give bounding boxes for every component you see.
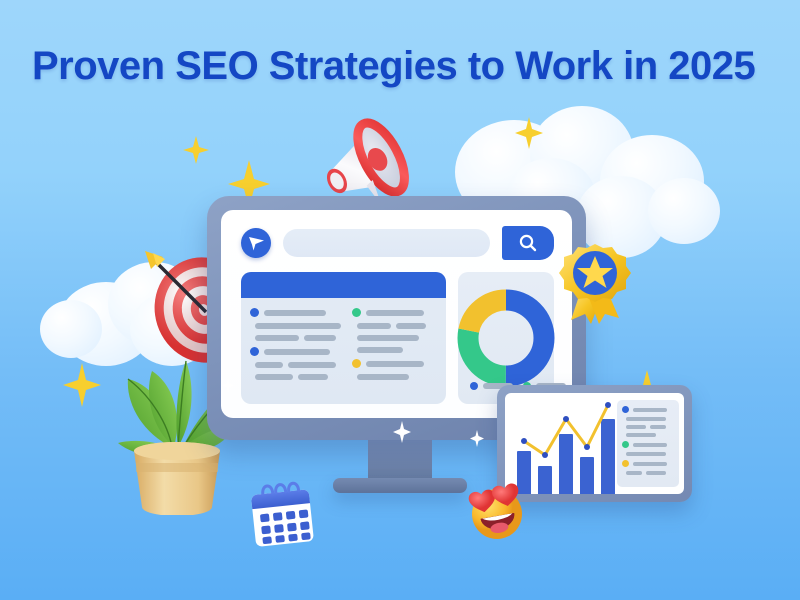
placeholder-bar: [396, 323, 426, 329]
placeholder-bar: [650, 425, 666, 429]
bar-2: [538, 466, 552, 494]
sparkle-star-icon: [63, 363, 101, 407]
list-column-right: [352, 308, 437, 386]
placeholder-bar: [288, 362, 336, 368]
list-item: [622, 433, 674, 437]
tablet-screen: [505, 393, 684, 494]
heart-eyes-emoji: [465, 476, 529, 544]
award-badge-icon: [557, 242, 635, 326]
placeholder-bar: [626, 417, 666, 421]
bullet-dot: [250, 347, 259, 356]
placeholder-bar: [633, 462, 667, 466]
calendar-icon: [245, 474, 321, 552]
sparkle-star-icon: [183, 136, 209, 164]
list-item: [622, 425, 674, 429]
list-item: [250, 308, 341, 317]
bullet-dot: [352, 359, 361, 368]
sparkle-star-icon: [222, 378, 234, 393]
list-item: [622, 452, 674, 456]
placeholder-bar: [357, 335, 419, 341]
cloud-decoration: [40, 300, 102, 358]
list-item: [352, 347, 437, 353]
list-item: [250, 323, 341, 329]
placeholder-bar: [255, 323, 341, 329]
list-column-left: [250, 308, 341, 386]
placeholder-bar: [366, 310, 424, 316]
placeholder-bar: [357, 374, 409, 380]
bar-4: [580, 457, 594, 494]
placeholder-bar: [626, 425, 646, 429]
bullet-dot: [352, 308, 361, 317]
placeholder-bar: [304, 335, 336, 341]
tablet-list-panel: [617, 400, 679, 487]
list-item: [622, 460, 674, 467]
placeholder-bar: [298, 374, 328, 380]
list-item: [250, 347, 341, 356]
list-item: [352, 374, 437, 380]
bar-5: [601, 419, 615, 494]
list-item: [352, 335, 437, 341]
list-item: [352, 359, 437, 368]
bullet-dot: [622, 406, 629, 413]
list-item: [352, 323, 437, 329]
monitor-stand-neck: [368, 440, 432, 483]
placeholder-bar: [255, 335, 299, 341]
cloud-decoration: [648, 178, 720, 244]
placeholder-bar: [255, 374, 293, 380]
search-button[interactable]: [502, 226, 554, 260]
placeholder-bar: [264, 349, 330, 355]
placeholder-bar: [633, 408, 667, 412]
list-item: [250, 374, 341, 380]
placeholder-bar: [366, 361, 424, 367]
placeholder-bar: [357, 323, 391, 329]
search-input[interactable]: [283, 229, 490, 257]
list-item: [250, 335, 341, 341]
list-panel: [241, 272, 446, 404]
bullet-dot: [250, 308, 259, 317]
placeholder-bar: [646, 471, 666, 475]
list-panel-header: [241, 272, 446, 298]
legend-dot: [470, 382, 478, 390]
sparkle-star-icon: [515, 117, 543, 149]
placeholder-bar: [357, 347, 403, 353]
donut-chart: [454, 286, 558, 395]
monitor-stand-base: [333, 478, 467, 493]
list-item: [622, 441, 674, 448]
page-title: Proven SEO Strategies to Work in 2025: [32, 44, 755, 89]
illustration-scene: Proven SEO Strategies to Work in 2025: [0, 0, 800, 600]
sparkle-star-icon: [393, 421, 411, 443]
placeholder-bar: [633, 443, 667, 447]
list-item: [622, 471, 674, 475]
placeholder-bar: [255, 362, 283, 368]
bullet-dot: [622, 441, 629, 448]
placeholder-bar: [626, 433, 656, 437]
placeholder-bar: [626, 452, 666, 456]
list-item: [352, 308, 437, 317]
list-item: [250, 362, 341, 368]
list-item: [622, 417, 674, 421]
paper-plane-icon: [241, 228, 271, 258]
placeholder-bar: [264, 310, 326, 316]
list-item: [622, 406, 674, 413]
placeholder-bar: [626, 471, 642, 475]
sparkle-star-icon: [470, 430, 484, 447]
search-bar-row: [241, 226, 554, 260]
bullet-dot: [622, 460, 629, 467]
bar-3: [559, 434, 573, 494]
